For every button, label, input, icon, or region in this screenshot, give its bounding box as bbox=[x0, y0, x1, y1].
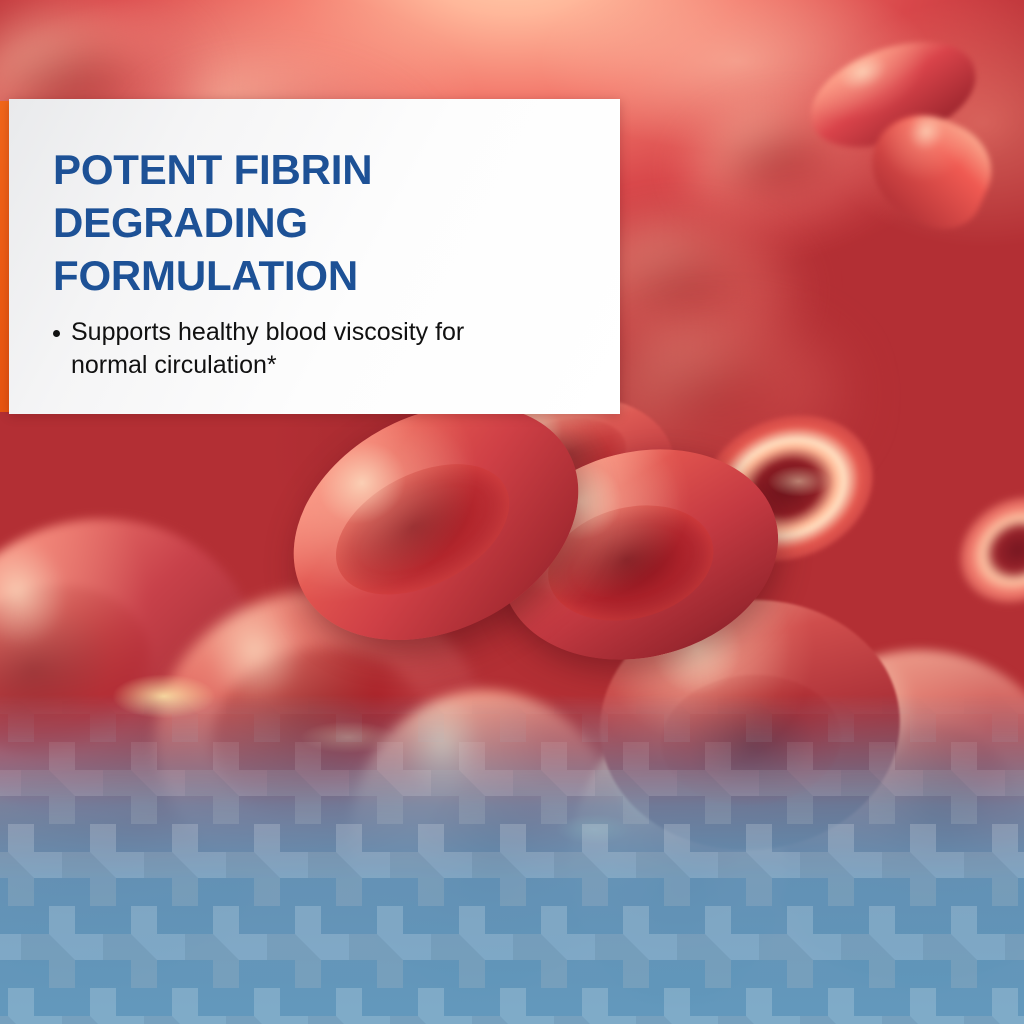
orange-accent-bar bbox=[0, 101, 9, 412]
folded-blood-cell bbox=[854, 98, 1006, 242]
foreground-blood-cell bbox=[592, 590, 909, 860]
folded-blood-cell bbox=[805, 25, 981, 164]
list-item-label: Supports healthy blood viscosity for nor… bbox=[71, 318, 464, 379]
blurred-blood-cell bbox=[0, 480, 295, 859]
torus-blood-cell bbox=[941, 477, 1024, 624]
page-title: POTENT FIBRIN DEGRADING FORMULATION bbox=[53, 143, 393, 302]
blurred-blood-cell bbox=[760, 650, 1024, 990]
blurred-blood-cell bbox=[350, 690, 620, 990]
foreground-blood-cell bbox=[479, 421, 800, 688]
benefit-list: Supports healthy blood viscosity for nor… bbox=[53, 316, 590, 382]
bullet-dot-icon bbox=[53, 330, 60, 337]
blue-gradient-tint bbox=[0, 694, 1024, 1024]
blurred-blood-cell bbox=[570, 720, 785, 1005]
blurred-blood-cell bbox=[0, 671, 278, 989]
blurred-blood-cell bbox=[595, 322, 844, 478]
info-card: POTENT FIBRIN DEGRADING FORMULATION Supp… bbox=[9, 99, 620, 414]
blurred-blood-cell bbox=[136, 568, 503, 901]
promo-image: POTENT FIBRIN DEGRADING FORMULATION Supp… bbox=[0, 0, 1024, 1024]
blurred-blood-cell bbox=[685, 101, 880, 228]
list-item: Supports healthy blood viscosity for nor… bbox=[53, 316, 501, 382]
cross-tile-grid bbox=[0, 694, 1024, 1024]
torus-blood-cell bbox=[680, 390, 895, 585]
medical-cross-pattern-band bbox=[0, 694, 1024, 1024]
